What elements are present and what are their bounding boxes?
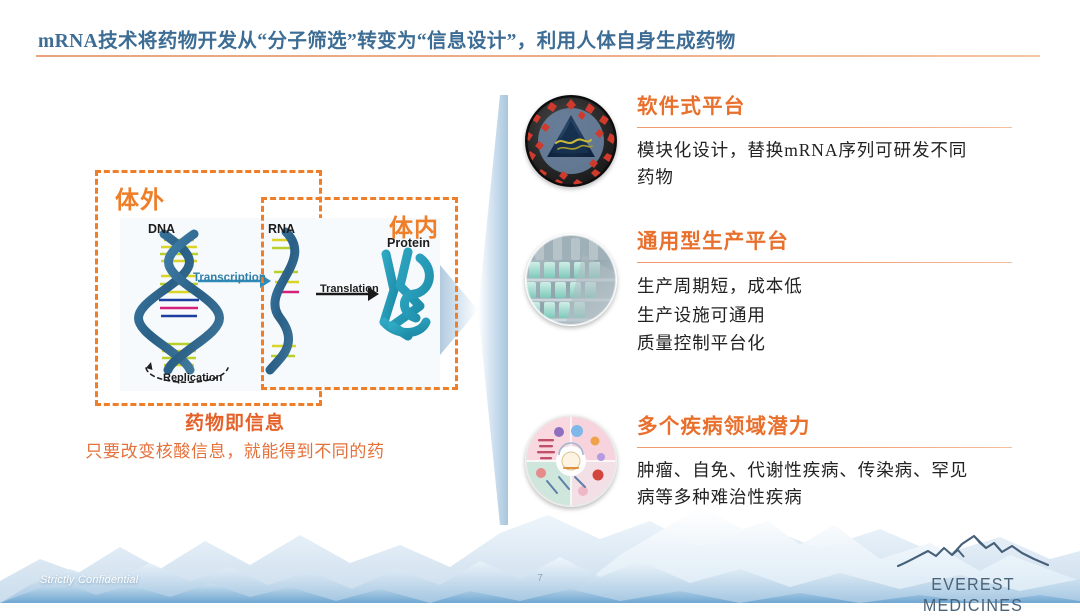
section-divider-rule [637,127,1012,129]
dna-label: DNA [148,222,175,236]
section-manufacturing-platform: 通用型生产平台 生产周期短，成本低 生产设施可通用 质量控制平台化 [525,230,1045,357]
lipid-nanoparticle-icon [525,95,617,187]
ex-vivo-label: 体外 [115,180,165,215]
central-dogma-diagram: 体外 体内 DNA RNA Protein Transcription Tran… [0,0,500,480]
section-text-line: 质量控制平台化 [637,329,1045,357]
everest-medicines-logo: EVEREST MEDICINES [894,534,1052,616]
section-text-line: 病等多种难治性疾病 [637,484,1045,511]
rna-label: RNA [268,222,295,236]
transcription-label: Transcription [193,272,266,284]
section-divider-rule [637,262,1012,264]
translation-label: Translation [320,283,379,295]
replication-label: Replication [163,372,222,384]
manufacturing-vials-icon [525,234,617,326]
section-text-line: 生产设施可通用 [637,301,1045,329]
diagram-caption-subtitle: 只要改变核酸信息，就能得到不同的药 [0,437,470,462]
section-body: 通用型生产平台 生产周期短，成本低 生产设施可通用 质量控制平台化 [637,230,1045,357]
section-text-line: 生产周期短，成本低 [637,272,1045,300]
section-heading: 多个疾病领域潜力 [637,415,1045,441]
section-disease-areas: 多个疾病领域潜力 肿瘤、自免、代谢性疾病、传染病、罕见 病等多种难治性疾病 [525,415,1045,511]
section-text-line: 模块化设计，替换mRNA序列可研发不同 [637,137,1045,164]
section-heading: 通用型生产平台 [637,230,1045,256]
dna-helix-graphic [139,234,220,370]
section-heading: 软件式平台 [637,95,1045,121]
section-text-line: 肿瘤、自免、代谢性疾病、传染病、罕见 [637,457,1045,484]
mountain-logo-icon [894,534,1052,568]
section-text: 肿瘤、自免、代谢性疾病、传染病、罕见 病等多种难治性疾病 [637,457,1045,511]
disease-areas-wheel-icon [525,415,617,507]
section-text: 生产周期短，成本低 生产设施可通用 质量控制平台化 [637,272,1045,357]
section-body: 软件式平台 模块化设计，替换mRNA序列可研发不同 药物 [637,95,1045,191]
section-software-platform: 软件式平台 模块化设计，替换mRNA序列可研发不同 药物 [525,95,1045,191]
section-text: 模块化设计，替换mRNA序列可研发不同 药物 [637,137,1045,191]
in-vivo-label: 体内 [389,208,439,243]
section-divider-rule [637,447,1012,449]
section-text-line: 药物 [637,164,1045,191]
section-body: 多个疾病领域潜力 肿瘤、自免、代谢性疾病、传染病、罕见 病等多种难治性疾病 [637,415,1045,511]
diagram-caption-title: 药物即信息 [0,408,470,435]
logo-wordmark: EVEREST MEDICINES [900,574,1045,616]
